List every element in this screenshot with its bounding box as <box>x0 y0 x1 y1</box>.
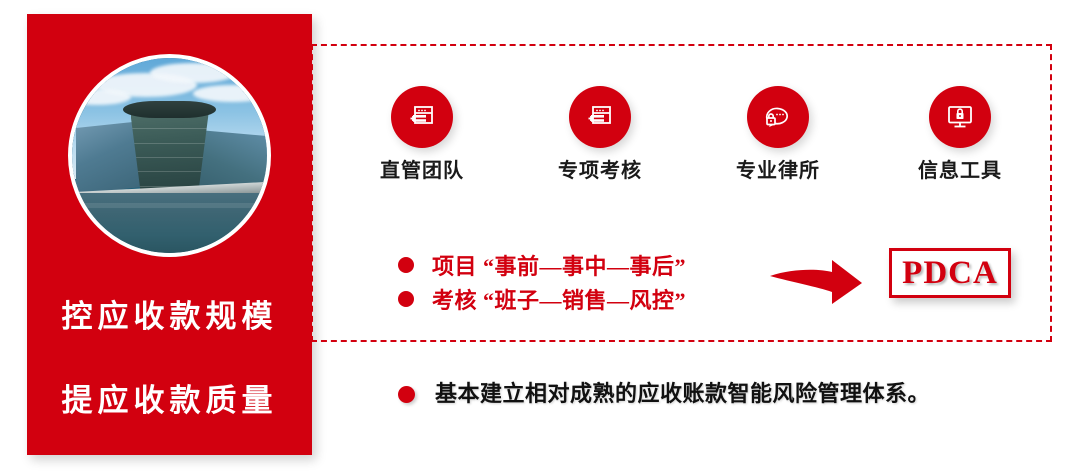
photo-cloud <box>150 63 236 84</box>
red-bullet-list: 项目 “事前—事中—事后” 考核 “班子—销售—风控” <box>398 248 758 316</box>
photo-cloud <box>72 89 131 105</box>
pdca-badge: PDCA <box>889 248 1011 298</box>
list-item: 考核 “班子—销售—风控” <box>398 282 758 316</box>
panel-headline-line-2: 提应收款质量 <box>27 385 312 416</box>
photo-cloud <box>193 85 267 102</box>
list-item: 项目 “事前—事中—事后” <box>398 248 758 282</box>
bullet-dot-icon <box>398 291 414 307</box>
photo-water <box>72 193 267 253</box>
pillar-item-information-tools[interactable]: 信息工具 <box>890 86 1030 181</box>
pdca-label: PDCA <box>902 257 998 290</box>
bullet-dot-icon <box>398 257 414 273</box>
conclusion-row: 基本建立相对成熟的应收账款智能风险管理体系。 <box>398 383 930 405</box>
window-plus-icon <box>391 86 453 148</box>
window-plus-icon <box>569 86 631 148</box>
speech-bubble-lock-icon <box>747 86 809 148</box>
pillar-label: 直管团队 <box>352 161 492 181</box>
bullet-text: 考核 “班子—销售—风控” <box>432 283 686 315</box>
conclusion-text: 基本建立相对成熟的应收账款智能风险管理体系。 <box>435 383 930 405</box>
panel-headline-line-1: 控应收款规模 <box>27 301 312 332</box>
building-photo <box>68 54 271 257</box>
bullet-dot-icon <box>398 386 415 403</box>
bullet-text: 项目 “事前—事中—事后” <box>432 249 686 281</box>
right-arrow-icon <box>768 258 864 314</box>
pillar-label: 信息工具 <box>890 161 1030 181</box>
pillar-item-law-firm[interactable]: 专业律所 <box>708 86 848 181</box>
pillar-item-direct-team[interactable]: 直管团队 <box>352 86 492 181</box>
monitor-lock-icon <box>929 86 991 148</box>
pillar-label: 专业律所 <box>708 161 848 181</box>
pillar-label: 专项考核 <box>530 161 670 181</box>
building-photo-image <box>72 58 267 253</box>
slide-canvas: 控应收款规模 提应收款质量 直管团队 <box>0 0 1080 475</box>
photo-tower-cap <box>123 101 217 119</box>
left-red-panel: 控应收款规模 提应收款质量 <box>27 14 312 455</box>
pillars-row: 直管团队 专项考核 <box>311 86 1052 196</box>
pillar-item-special-assessment[interactable]: 专项考核 <box>530 86 670 181</box>
